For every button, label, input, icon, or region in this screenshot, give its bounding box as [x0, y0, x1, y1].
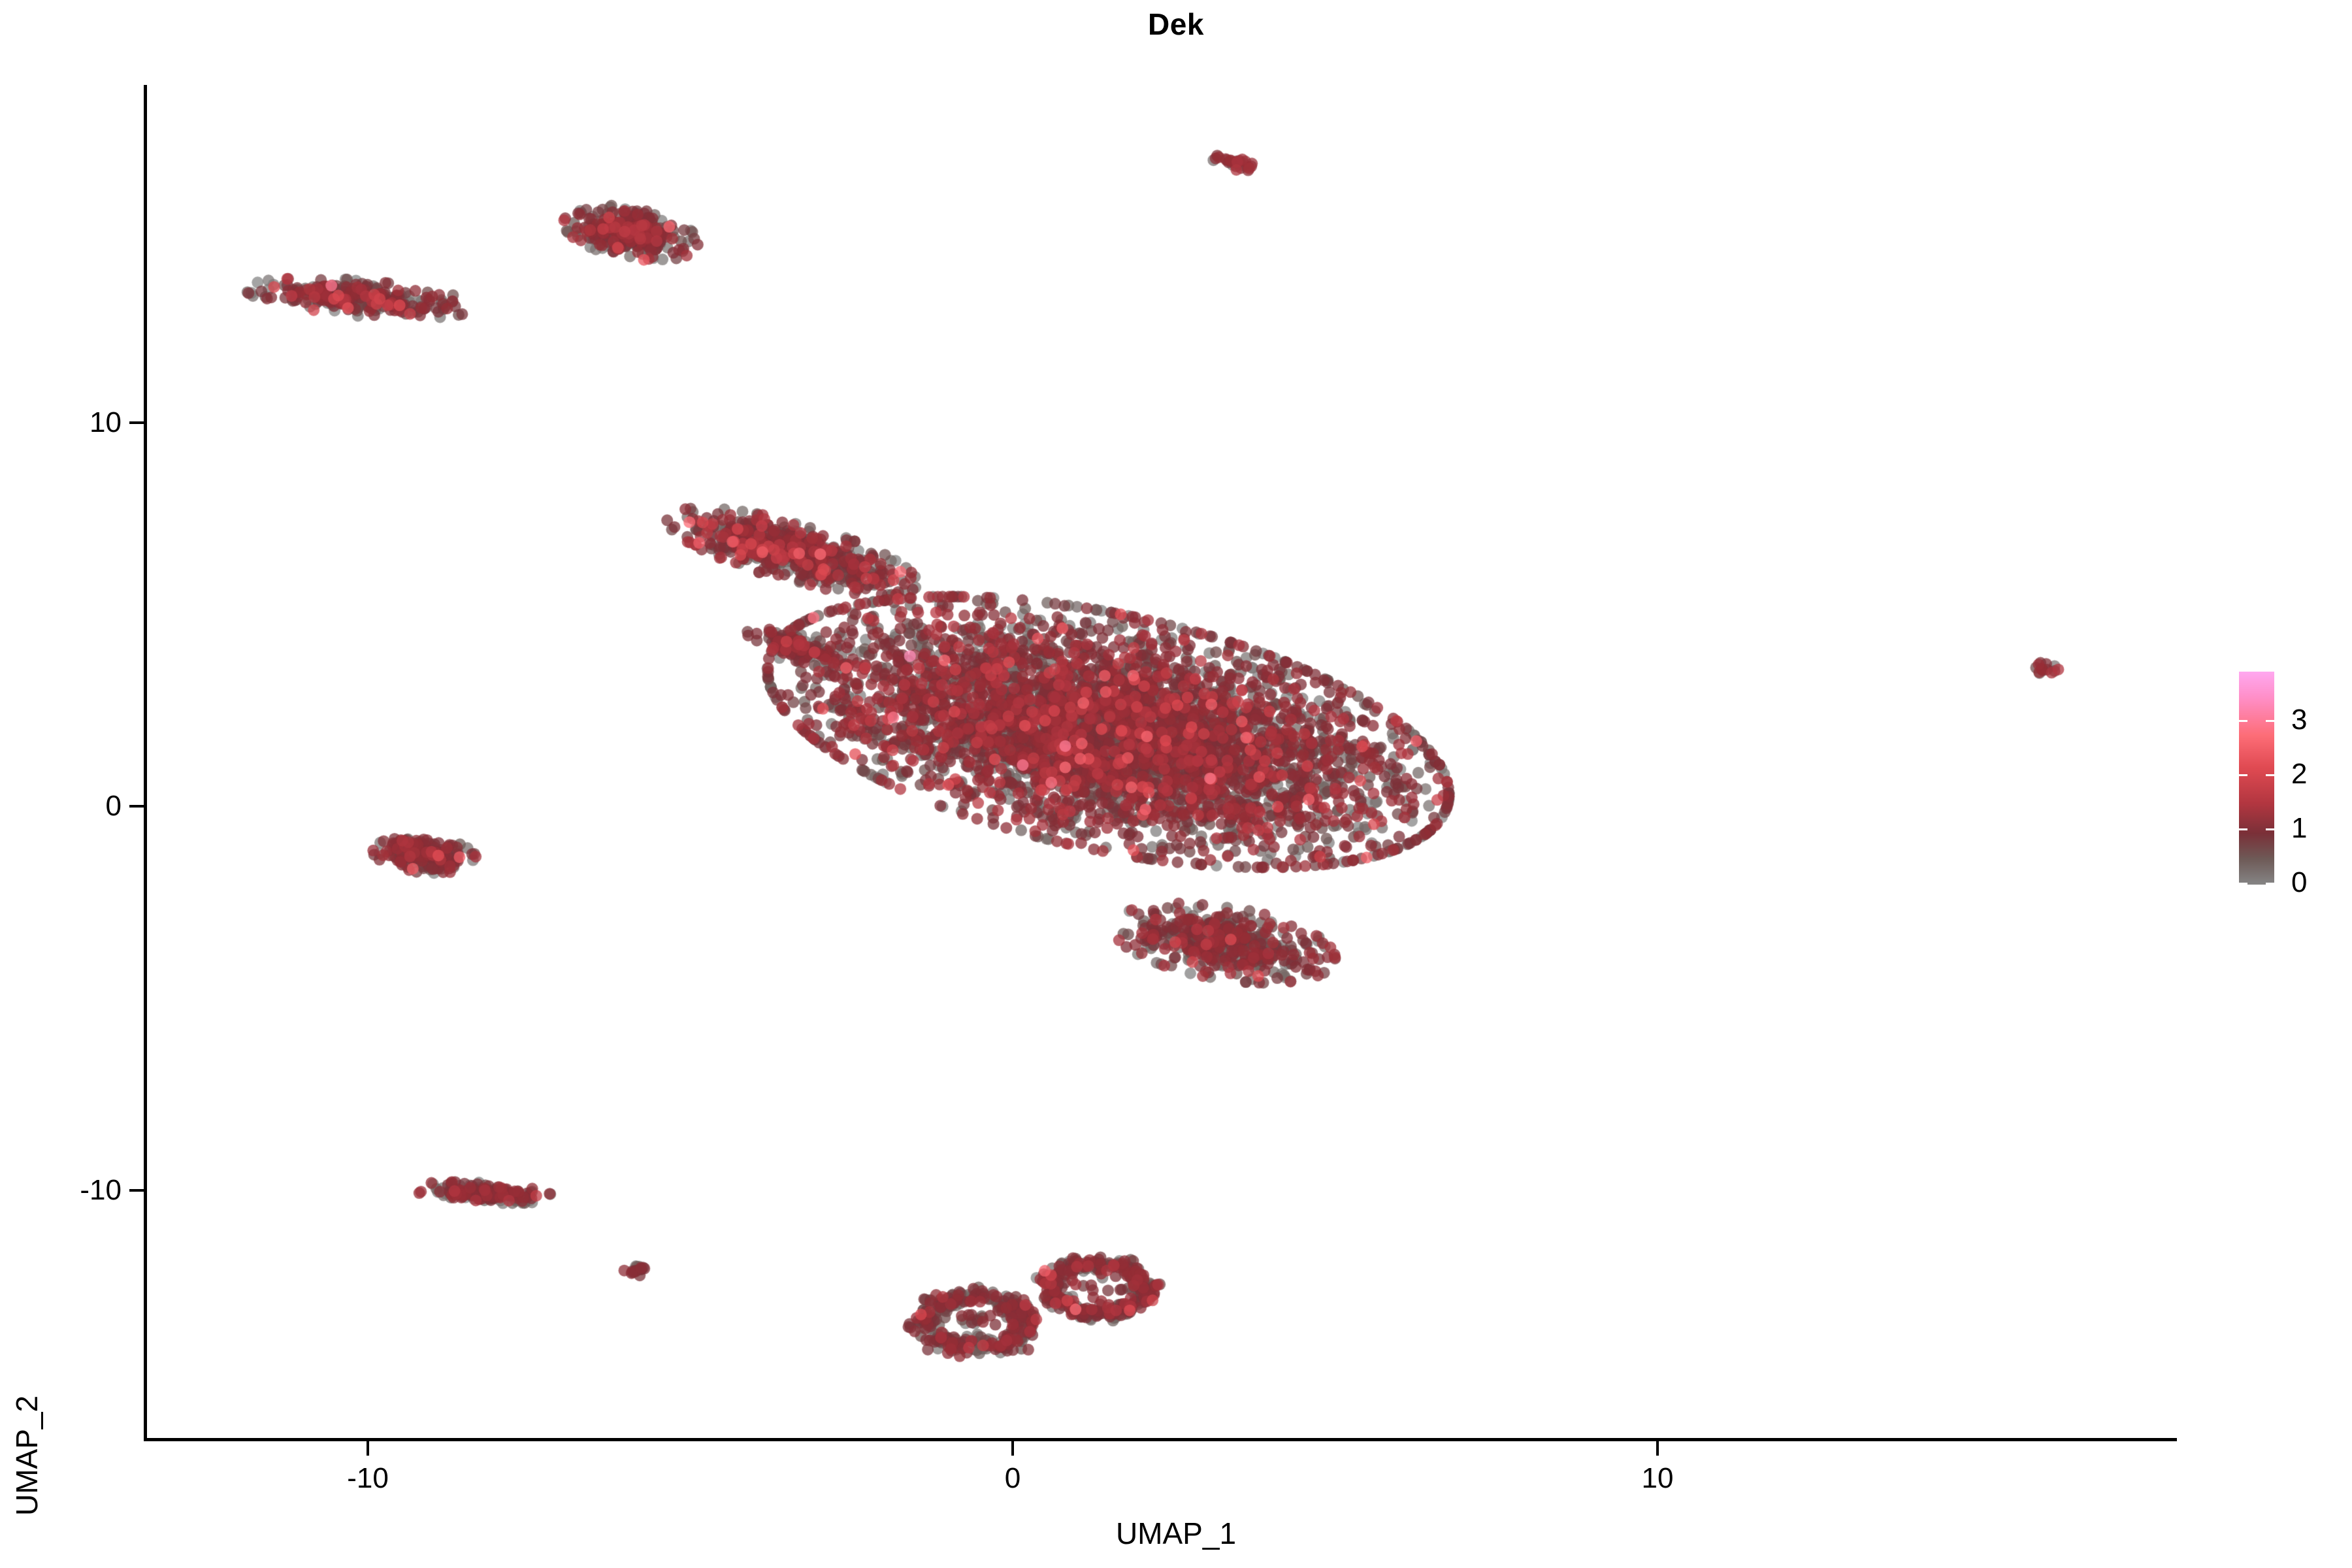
colorbar-tick	[2239, 720, 2247, 722]
y-axis-label-wrap: UMAP_2	[35, 764, 74, 804]
y-tick-mark	[129, 421, 144, 424]
y-tick-label: -10	[80, 1174, 122, 1207]
y-tick-label: 0	[106, 790, 122, 823]
plot-canvas: Dek -10 0 10 10 0 -10 UMAP_1 UMAP_2 3 2 …	[0, 0, 2352, 1568]
colorbar-tick-label: 2	[2291, 758, 2307, 791]
x-tick-label: 10	[1642, 1462, 1674, 1495]
y-tick-label: 10	[90, 406, 122, 439]
colorbar-tick	[2239, 883, 2247, 885]
y-axis-line	[144, 85, 147, 1441]
colorbar-tick-label: 3	[2291, 704, 2307, 736]
x-tick-label: 0	[1005, 1462, 1021, 1495]
colorbar-gradient	[2239, 672, 2274, 885]
x-axis-label: UMAP_1	[0, 1516, 2352, 1551]
y-tick-mark	[129, 1189, 144, 1192]
colorbar-tick-label: 0	[2291, 866, 2307, 899]
y-tick-mark	[129, 805, 144, 808]
x-axis-line	[144, 1438, 2177, 1441]
colorbar-tick-label: 1	[2291, 812, 2307, 845]
colorbar-tick	[2266, 828, 2274, 830]
x-tick-label: -10	[347, 1462, 389, 1495]
colorbar-tick	[2266, 883, 2274, 885]
x-tick-mark	[1656, 1441, 1659, 1456]
y-axis-label: UMAP_2	[9, 1396, 44, 1516]
scatter-points-layer	[0, 0, 2352, 1568]
colorbar-tick	[2266, 720, 2274, 722]
x-tick-mark	[1011, 1441, 1014, 1456]
x-tick-mark	[367, 1441, 369, 1456]
colorbar-tick	[2239, 828, 2247, 830]
colorbar-tick	[2239, 774, 2247, 776]
colorbar-tick	[2266, 774, 2274, 776]
